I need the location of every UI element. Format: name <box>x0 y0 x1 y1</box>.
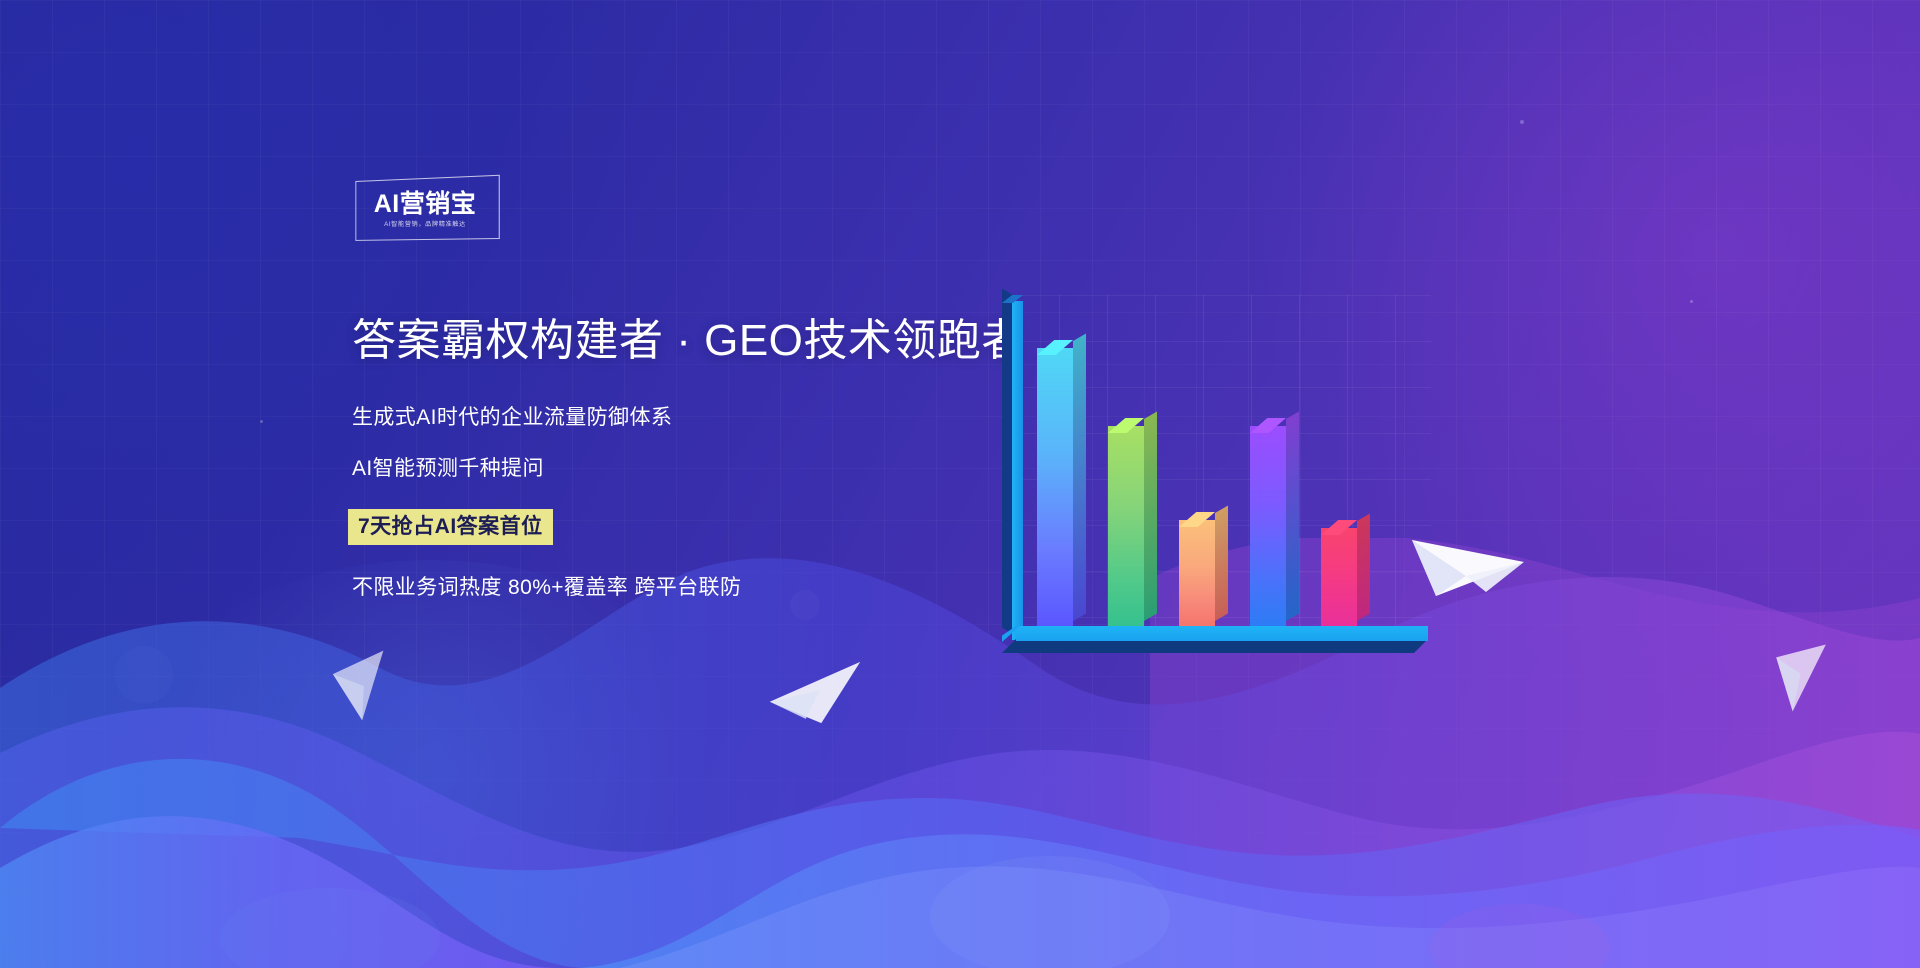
wave-decoration <box>0 538 1920 968</box>
decorative-dot <box>1520 120 1524 124</box>
bar-3 <box>1179 520 1215 628</box>
bar-5 <box>1321 528 1357 628</box>
decorative-dot <box>1690 300 1693 303</box>
chart-y-axis <box>1002 295 1028 640</box>
brand-logo[interactable]: AI营销宝 AI智能营销，品牌精准触达 <box>352 178 498 240</box>
brand-logo-text: AI营销宝 <box>374 192 477 217</box>
hero-highlight-badge: 7天抢占AI答案首位 <box>348 509 553 545</box>
hero-banner: AI营销宝 AI智能营销，品牌精准触达 答案霸权构建者 · GEO技术领跑者 生… <box>0 0 1920 968</box>
hero-subheadline: 生成式AI时代的企业流量防御体系 <box>352 407 972 428</box>
bar-4 <box>1250 426 1286 628</box>
bar-1 <box>1037 348 1073 628</box>
bar-chart <box>975 295 1445 665</box>
page-title: 答案霸权构建者 · GEO技术领跑者 <box>352 315 972 367</box>
paper-plane-icon <box>327 648 400 731</box>
bar-2 <box>1108 426 1144 628</box>
chart-x-axis <box>1002 626 1432 656</box>
decorative-dot <box>260 420 263 423</box>
paper-plane-icon <box>765 644 867 734</box>
hero-feature-line: AI智能预测千种提问 <box>352 458 972 479</box>
paper-plane-icon <box>1408 518 1528 608</box>
hero-benefits-line: 不限业务词热度 80%+覆盖率 跨平台联防 <box>352 577 972 598</box>
paper-plane-icon <box>1764 637 1836 723</box>
hero-copy: 答案霸权构建者 · GEO技术领跑者 生成式AI时代的企业流量防御体系 AI智能… <box>352 315 972 598</box>
brand-logo-tagline: AI智能营销，品牌精准触达 <box>384 222 466 228</box>
